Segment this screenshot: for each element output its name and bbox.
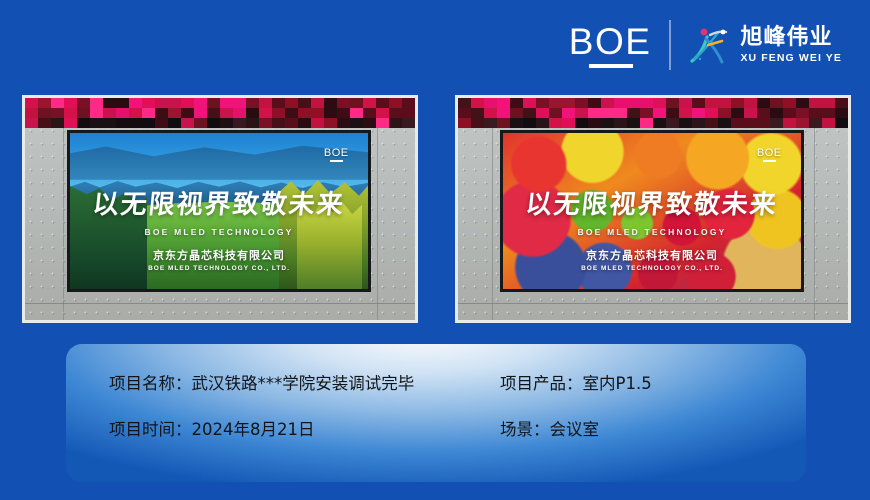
project-info-grid: 项目名称：武汉铁路***学院安装调试完毕 项目产品：室内P1.5 项目时间：20… [66,344,806,482]
partner-name-cn: 旭峰伟业 [740,25,842,49]
floor-line [25,303,415,304]
floor-line [458,303,848,304]
led-display-panel: BOE 以无限视界致敬未来 BOE MLED TECHNOLOGY 京东方晶芯科… [67,130,371,292]
led-display-panel: BOE 以无限视界致敬未来 BOE MLED TECHNOLOGY 京东方晶芯科… [500,130,804,292]
xufeng-bird-mark-icon [688,23,732,67]
photo-led-screen-landscape: BOE 以无限视界致敬未来 BOE MLED TECHNOLOGY 京东方晶芯科… [22,95,418,323]
screen-company-en: BOE MLED TECHNOLOGY CO., LTD. [70,265,368,272]
screen-boe-text: BOE [757,147,782,159]
screen-headline: 以无限视界致敬未来 [68,184,370,221]
info-scene: 场景：会议室 [500,412,806,448]
info-project-name: 项目名称：武汉铁路***学院安装调试完毕 [109,366,500,402]
brand-lockup: BOE 旭峰伟业 XU FENG WEI YE [569,18,842,72]
info-project-time: 项目时间：2024年8月21日 [109,412,500,448]
wall-seam [63,98,64,320]
screen-subline: BOE MLED TECHNOLOGY [503,227,801,237]
screen-company-cn: 京东方晶芯科技有限公司 [70,247,368,263]
wall-seam [492,98,493,320]
censored-mosaic-strip [458,98,848,128]
screen-company-block: 京东方晶芯科技有限公司 BOE MLED TECHNOLOGY CO., LTD… [70,247,368,272]
photo-led-screen-fruits: BOE 以无限视界致敬未来 BOE MLED TECHNOLOGY 京东方晶芯科… [455,95,851,323]
partner-brand: 旭峰伟业 XU FENG WEI YE [671,23,842,67]
screen-headline: 以无限视界致敬未来 [501,184,803,221]
wall-seam [377,98,378,320]
censored-mosaic-strip [25,98,415,128]
screen-boe-watermark: BOE [757,147,782,162]
screen-boe-underline-icon [330,160,343,162]
partner-name-block: 旭峰伟业 XU FENG WEI YE [740,25,842,65]
screen-boe-underline-icon [763,160,776,162]
boe-wordmark: BOE [569,23,652,61]
screen-company-cn: 京东方晶芯科技有限公司 [503,247,801,263]
screen-company-block: 京东方晶芯科技有限公司 BOE MLED TECHNOLOGY CO., LTD… [503,247,801,272]
boe-logo: BOE [569,23,670,68]
project-info-panel: 项目名称：武汉铁路***学院安装调试完毕 项目产品：室内P1.5 项目时间：20… [66,344,806,482]
screen-boe-watermark: BOE [324,147,349,162]
info-project-product: 项目产品：室内P1.5 [500,366,806,402]
boe-underline-icon [589,64,633,68]
page-header: BOE 旭峰伟业 XU FENG WEI YE [0,0,870,92]
screen-boe-text: BOE [324,147,349,159]
screen-subline: BOE MLED TECHNOLOGY [70,227,368,237]
screen-company-en: BOE MLED TECHNOLOGY CO., LTD. [503,265,801,272]
wall-seam [814,98,815,320]
partner-name-en: XU FENG WEI YE [740,51,842,65]
